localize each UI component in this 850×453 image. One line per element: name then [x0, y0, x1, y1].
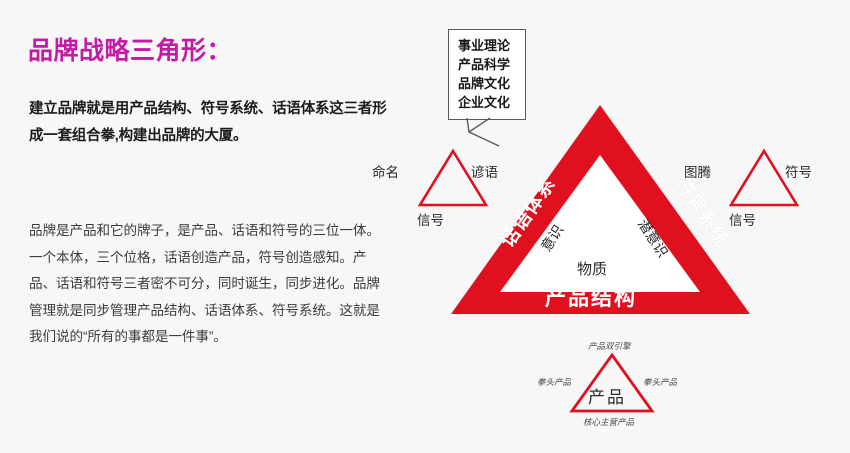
slide-canvas: 品牌战略三角形： 建立品牌就是用产品结构、符号系统、话语体系这三者形成一套组合拳…: [0, 0, 850, 453]
small-triangle-right-group: 图腾 符号 信号: [688, 146, 823, 231]
bottom-triangle-label-top: 产品双引擎: [588, 340, 631, 352]
main-edge-label-bottom: 产品结构: [545, 282, 637, 312]
bottom-triangle-label-bottom: 核心主营产品: [583, 416, 634, 428]
body-paragraph: 品牌是产品和它的牌子，是产品、话语和符号的三位一体。一个本体，三个位格，话语创造…: [29, 218, 385, 351]
callout-line-2: 产品科学: [458, 55, 516, 74]
bottom-triangle-label-right: 拳头产品: [643, 376, 677, 388]
inner-label-bottom: 物质: [577, 258, 607, 279]
page-title: 品牌战略三角形：: [28, 31, 232, 67]
small-triangle-right-label-left: 图腾: [684, 161, 711, 181]
bottom-triangle-label-center: 产品: [588, 383, 626, 408]
lead-paragraph: 建立品牌就是用产品结构、符号系统、话语体系这三者形成一套组合拳,构建出品牌的大厦…: [29, 96, 389, 150]
callout-line-3: 品牌文化: [458, 74, 516, 93]
small-triangle-right-label-bottom: 信号: [729, 209, 756, 229]
bottom-triangle-label-left: 拳头产品: [537, 376, 571, 388]
callout-line-1: 事业理论: [458, 36, 516, 55]
small-triangle-right-label-right: 符号: [785, 161, 812, 181]
small-triangle-left-label-bottom: 信号: [417, 209, 444, 229]
small-triangle-left-label-right: 谚语: [471, 161, 498, 181]
bottom-triangle-group: 产品双引擎 拳头产品 拳头产品 产品 核心主营产品: [525, 338, 695, 438]
small-triangle-left-label-left: 命名: [372, 161, 399, 181]
small-triangle-left-group: 命名 谚语 信号: [372, 146, 502, 231]
